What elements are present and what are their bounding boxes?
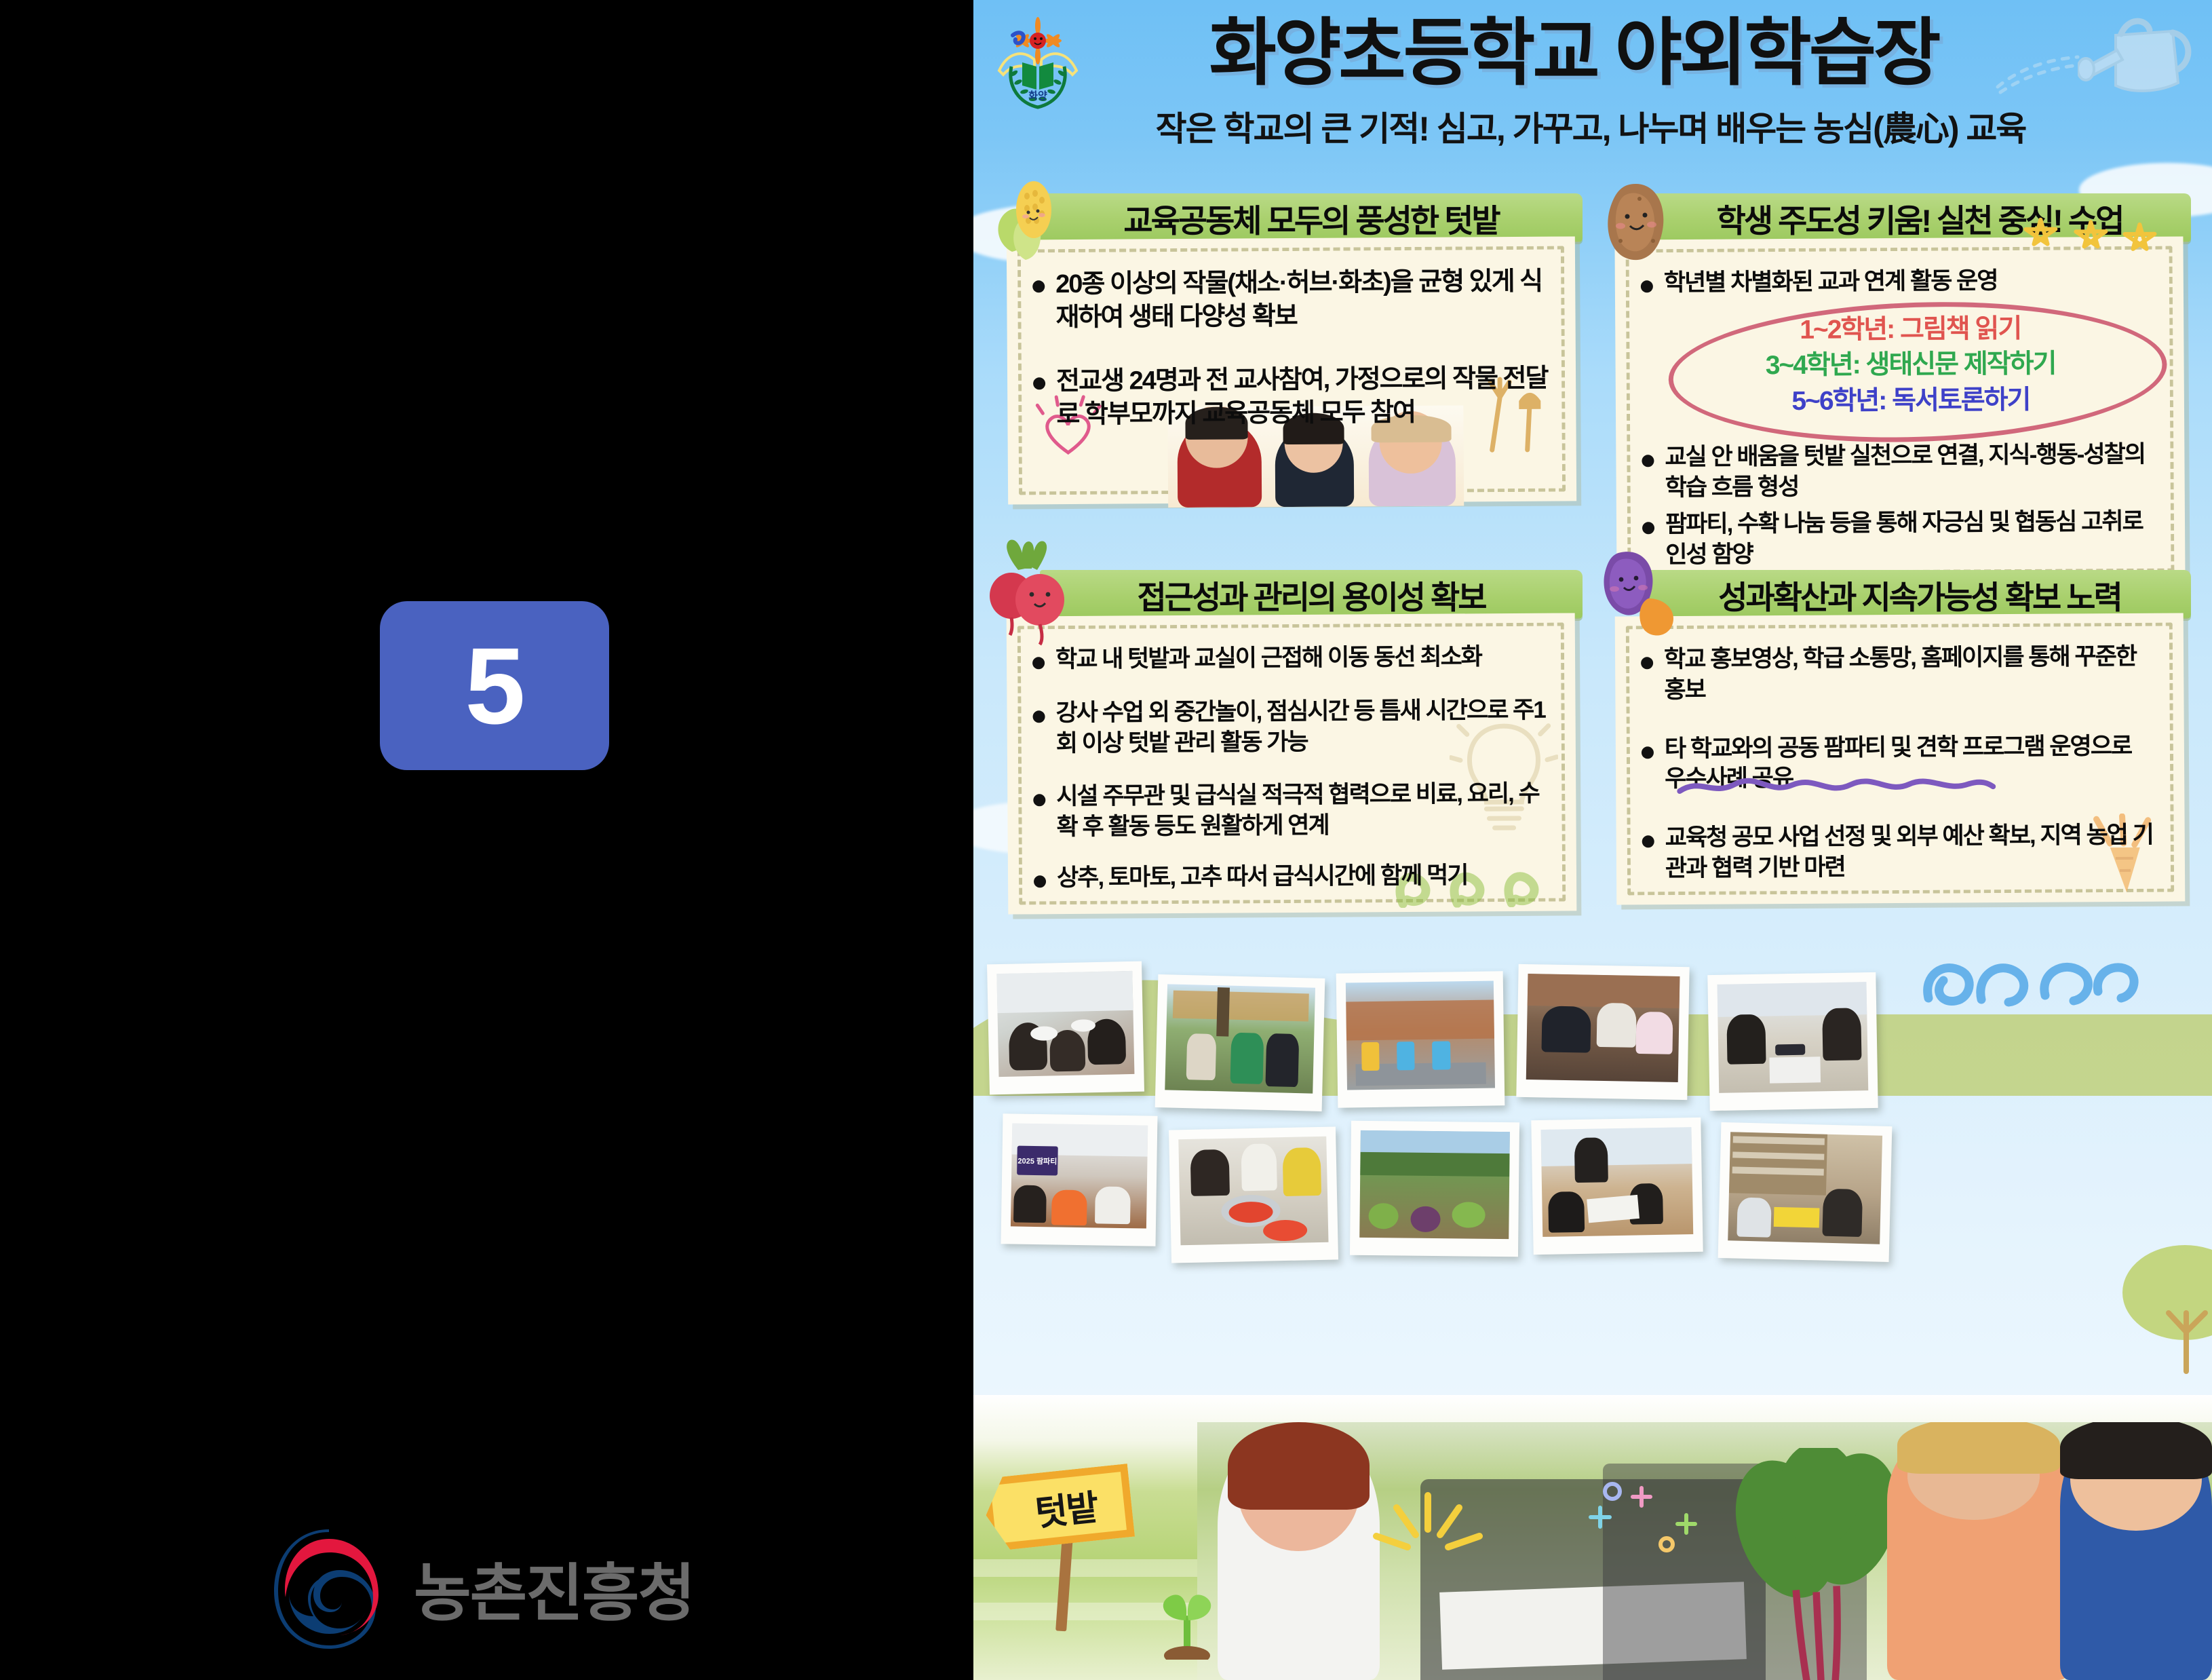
bullet-text: 20종 이상의 작물(채소·허브·화초)을 균형 있게 식재하여 생태 다양성 …	[1055, 265, 1549, 335]
card-banner-text: 접근성과 관리의 용이성 확보	[1137, 571, 1485, 618]
list-item: 시설 주무관 및 급식실 적극적 협력으로 비료, 요리, 수확 후 활동 등도…	[1033, 779, 1549, 843]
person-hair	[2060, 1422, 2212, 1479]
photo-students-boots-row	[1336, 971, 1505, 1107]
bullet-dot	[1641, 280, 1653, 292]
grade-line-1-2: 1~2학년: 그림책 읽기	[1677, 311, 2143, 349]
grade-line-3-4: 3~4학년: 생태신문 제작하기	[1677, 346, 2143, 385]
bullet-text: 학교 내 텃밭과 교실이 근접해 이동 동선 최소화	[1055, 642, 1481, 675]
list-item: 교실 안 배움을 텃밭 실천으로 연결, 지식-행동-성찰의 학습 흐름 형성	[1642, 439, 2158, 503]
poster-title: 화양초등학교 야외학습장	[1082, 12, 2065, 94]
person-hair	[1228, 1422, 1370, 1510]
card-note: 학년별 차별화된 교과 연계 활동 운영 1~2학년: 그림책 읽기 3~4학년…	[1614, 236, 2185, 584]
list-item: 20종 이상의 작물(채소·허브·화초)을 균형 있게 식재하여 생태 다양성 …	[1032, 265, 1549, 335]
card-note: 20종 이상의 작물(채소·허브·화초)을 균형 있게 식재하여 생태 다양성 …	[1007, 236, 1576, 504]
photo-garden-beds	[1350, 1121, 1519, 1257]
card-community-garden: 교육공동체 모두의 풍성한 텃밭 20종 이상의 작물(채소·허브·화초)을 균…	[992, 193, 1589, 503]
bullet-text: 교실 안 배움을 텃밭 실천으로 연결, 지식-행동-성찰의 학습 흐름 형성	[1665, 439, 2158, 503]
bullet-text: 전교생 24명과 전 교사참여, 가정으로의 작물 전달로 학부모까지 교육공동…	[1056, 362, 1549, 432]
taeguk-icon	[271, 1527, 387, 1649]
bullet-dot	[1033, 710, 1045, 723]
grade-highlight-group: 1~2학년: 그림책 읽기 3~4학년: 생태신문 제작하기 5~6학년: 독서…	[1664, 299, 2157, 432]
card-banner-text: 교육공동체 모두의 풍성한 텃밭	[1123, 195, 1498, 242]
photo-image	[1178, 1137, 1328, 1246]
sign-pole	[1055, 1536, 1073, 1632]
list-item: 전교생 24명과 전 교사참여, 가정으로의 작물 전달로 학부모까지 교육공동…	[1033, 362, 1549, 432]
agency-logo: 농촌진흥청	[271, 1527, 694, 1649]
bottom-band: 텃밭	[973, 1395, 2212, 1680]
grade-line-5-6: 5~6학년: 독서토론하기	[1678, 382, 2143, 421]
bullet-dot	[1033, 795, 1045, 807]
bush-decor	[2110, 1211, 2212, 1374]
corn-icon	[989, 178, 1069, 267]
photo-image	[1718, 982, 1869, 1093]
photo-sweet-potato-harvest	[1155, 974, 1325, 1111]
bullet-dot	[1033, 377, 1045, 389]
radish-icon	[980, 537, 1082, 646]
card-accessibility: 접근성과 관리의 용이성 확보	[992, 570, 1589, 913]
list-item: 학교 내 텃밭과 교실이 근접해 이동 동선 최소화	[1032, 642, 1548, 675]
bullet-list: 학교 홍보영상, 학급 소통망, 홈페이지를 통해 꾸준한 홍보 타 학교와의 …	[1634, 631, 2166, 892]
card-student-led-lessons: 학생 주도성 키움! 실천 중심! 수업	[1601, 193, 2198, 583]
page-number: 5	[465, 632, 524, 740]
photo-image	[1165, 984, 1315, 1093]
photo-image	[996, 971, 1134, 1077]
garden-signpost: 텃밭	[986, 1471, 1142, 1627]
photo-image: 2025 팜파티	[1011, 1123, 1148, 1228]
bullet-text: 학교 홍보영상, 학급 소통망, 홈페이지를 통해 꾸준한 홍보	[1664, 642, 2157, 706]
emblem-label: 화양	[1028, 90, 1047, 102]
photo-planting-field	[1516, 964, 1689, 1100]
bullet-text: 교육청 공모 사업 선정 및 외부 예산 확보, 지역 농업 기관과 협력 기반…	[1665, 820, 2158, 884]
bullet-dot	[1642, 835, 1654, 847]
list-item: 학교 홍보영상, 학급 소통망, 홈페이지를 통해 꾸준한 홍보	[1641, 642, 2157, 706]
bullet-dot	[1642, 522, 1654, 535]
list-item: 교육청 공모 사업 선정 및 외부 예산 확보, 지역 농업 기관과 협력 기반…	[1642, 820, 2158, 884]
card-note: 학교 내 텃밭과 교실이 근접해 이동 동선 최소화 강사 수업 외 중간놀이,…	[1007, 613, 1577, 914]
list-item: 타 학교와의 공동 팜파티 및 견학 프로그램 운영으로 우수사례 공유	[1642, 731, 2158, 795]
bullet-text: 시설 주무관 및 급식실 적극적 협력으로 비료, 요리, 수확 후 활동 등도…	[1056, 779, 1549, 843]
photo-watermelon-prep	[1169, 1126, 1338, 1263]
list-item: 팜파티, 수확 나눔 등을 통해 자긍심 및 협동심 고취로 인성 함양	[1642, 507, 2158, 571]
bullet-dot	[1032, 657, 1045, 669]
card-banner: 접근성과 관리의 용이성 확보	[1040, 570, 1583, 619]
stars-doodle-icon	[2015, 214, 2171, 275]
photo-library-reading	[1718, 1122, 1893, 1262]
bullet-dot	[1642, 455, 1654, 467]
photo-caption: 2025 팜파티	[1017, 1155, 1057, 1166]
photo-image	[1359, 1130, 1510, 1239]
photo-image	[1541, 1127, 1694, 1237]
content-cards: 교육공동체 모두의 풍성한 텃밭 20종 이상의 작물(채소·허브·화초)을 균…	[973, 193, 2212, 947]
sign-plate: 텃밭	[982, 1464, 1135, 1552]
sign-label: 텃밭	[1017, 1478, 1100, 1537]
squiggle-underline-icon	[1677, 774, 1996, 799]
photo-classroom-art	[1707, 972, 1878, 1111]
sweet-potato-icon	[1591, 547, 1686, 649]
blue-scribble-doodle-icon	[1916, 951, 2140, 1025]
bullet-dot	[1641, 657, 1653, 669]
photo-image	[1346, 980, 1495, 1090]
bullet-text: 상추, 토마토, 고추 따서 급식시간에 함께 먹기	[1057, 860, 1468, 893]
bullet-list: 20종 이상의 작물(채소·허브·화초)을 균형 있게 식재하여 생태 다양성 …	[1026, 254, 1557, 453]
bullet-text: 팜파티, 수확 나눔 등을 통해 자긍심 및 협동심 고취로 인성 함양	[1665, 507, 2158, 571]
confetti-doodle-icon	[1570, 1476, 1720, 1558]
left-panel: 5 농촌진흥청	[0, 0, 973, 1680]
bullet-dot	[1034, 875, 1046, 887]
photo-image	[1526, 974, 1680, 1082]
bullet-text: 학년별 차별화된 교과 연계 활동 운영	[1664, 266, 1998, 299]
card-banner: 성과확산과 지속가능성 확보 노력	[1648, 570, 2191, 619]
potato-icon	[1597, 178, 1677, 267]
bullet-dot	[1642, 746, 1654, 759]
card-sustainability: 성과확산과 지속가능성 확보 노력	[1601, 570, 2198, 903]
bullet-list: 학교 내 텃밭과 교실이 근접해 이동 동선 최소화 강사 수업 외 중간놀이,…	[1026, 631, 1557, 901]
poster-canvas: 화양	[973, 0, 2212, 1680]
bullet-list: 학년별 차별화된 교과 연계 활동 운영 1~2학년: 그림책 읽기 3~4학년…	[1634, 254, 2167, 571]
poster-header: 화양	[973, 0, 2212, 183]
straw-hat	[1897, 1422, 2059, 1474]
poster-page: 5 농촌진흥청	[0, 0, 2212, 1680]
card-banner-text: 성과확산과 지속가능성 확보 노력	[1718, 571, 2121, 618]
poster-subtitle: 작은 학교의 큰 기적! 심고, 가꾸고, 나누며 배우는 농심(農心) 교육	[1001, 102, 2181, 151]
card-note: 학교 홍보영상, 학급 소통망, 홈페이지를 통해 꾸준한 홍보 타 학교와의 …	[1615, 613, 2186, 904]
watering-can-icon	[2078, 7, 2200, 109]
bullet-text: 강사 수업 외 중간놀이, 점심시간 등 틈새 시간으로 주1회 이상 텃밭 관…	[1055, 695, 1549, 759]
bullet-dot	[1032, 280, 1045, 292]
agency-name: 농촌진흥청	[414, 1543, 694, 1633]
photo-lunch-tasting	[987, 961, 1144, 1095]
photo-image	[1728, 1132, 1882, 1244]
card-banner: 교육공동체 모두의 풍성한 텃밭	[1040, 193, 1583, 242]
list-item: 강사 수업 외 중간놀이, 점심시간 등 틈새 시간으로 주1회 이상 텃밭 관…	[1032, 695, 1549, 759]
sprout-icon	[1146, 1571, 1228, 1660]
school-emblem-icon: 화양	[987, 11, 1089, 113]
photo-farm-party-hall: 2025 팜파티	[1001, 1113, 1158, 1246]
sparkle-burst-icon	[1353, 1483, 1509, 1592]
photo-gallery: 2025 팜파티	[973, 953, 2212, 1374]
list-item: 상추, 토마토, 고추 따서 급식시간에 함께 먹기	[1034, 860, 1549, 894]
photo-group-worksheet	[1531, 1118, 1703, 1255]
page-number-badge: 5	[380, 601, 609, 770]
